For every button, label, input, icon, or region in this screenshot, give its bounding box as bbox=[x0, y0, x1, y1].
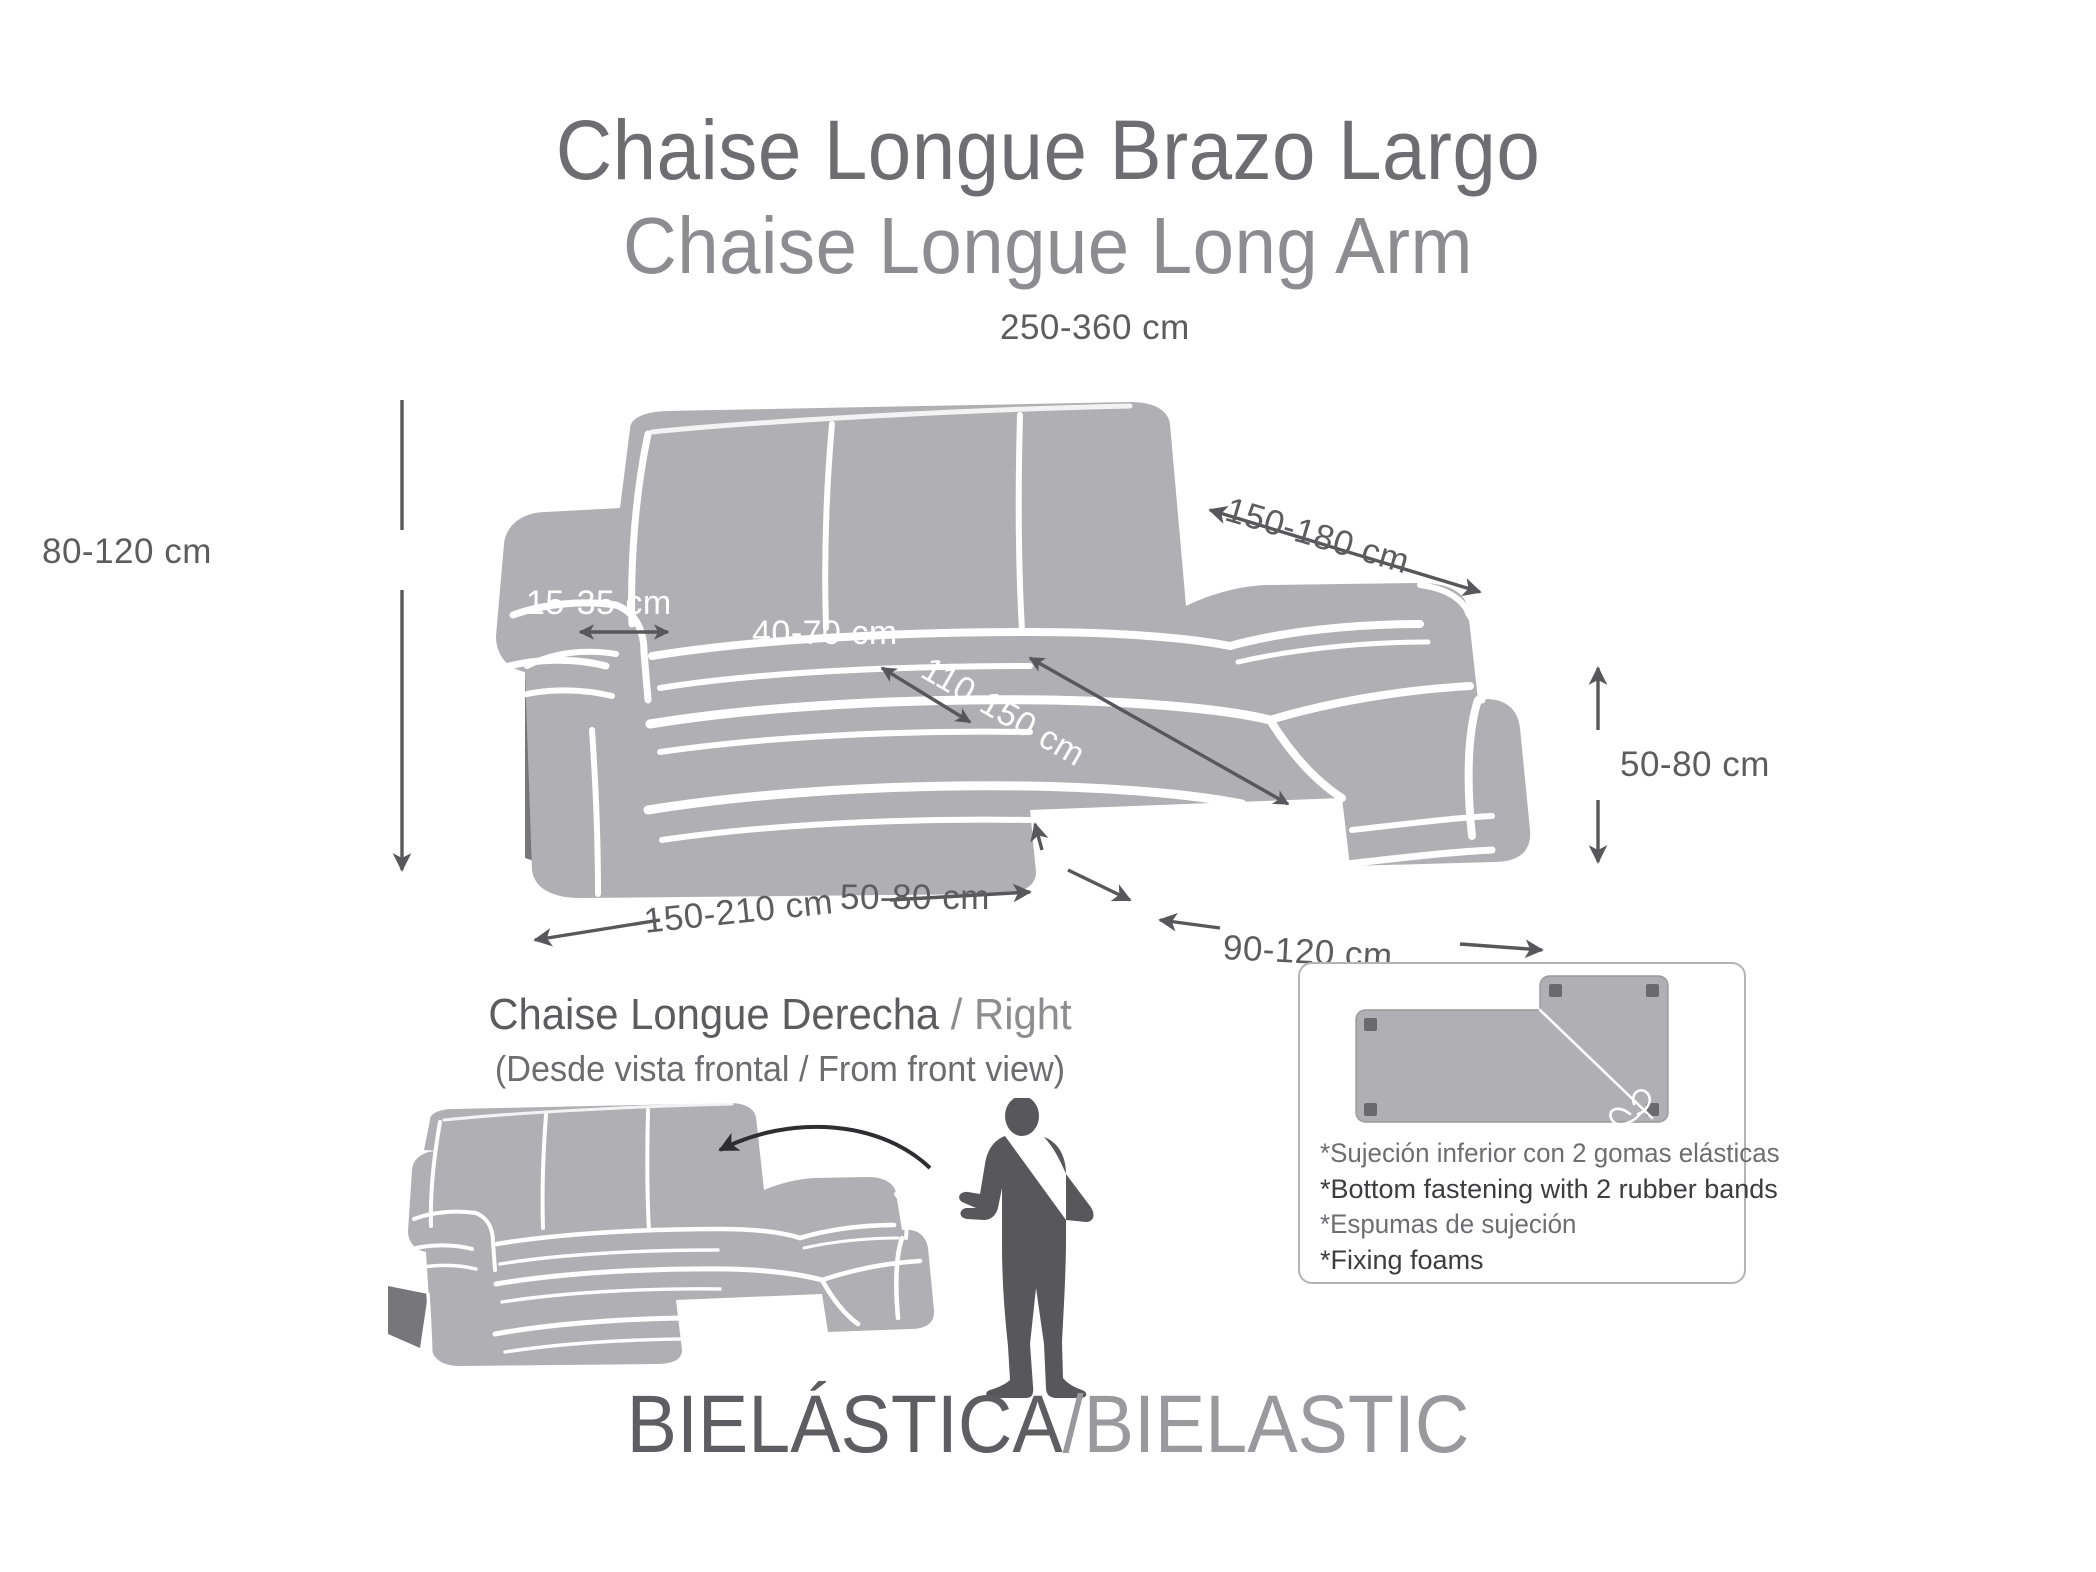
footer-english: BIELASTIC bbox=[1084, 1379, 1470, 1470]
sofa-body bbox=[496, 402, 1530, 898]
front-view-subtitle: (Desde vista frontal / From front view) bbox=[381, 1048, 1179, 1090]
page-title-english: Chaise Longue Long Arm bbox=[73, 206, 2022, 286]
dim-label-corner-width: 50-80 cm bbox=[840, 878, 990, 918]
front-view-heading-separator: / bbox=[939, 990, 974, 1039]
dim-label-total-width: 250-360 cm bbox=[1000, 308, 1190, 348]
dim-label-chaise-height: 50-80 cm bbox=[1620, 745, 1770, 785]
front-view-heading-spanish: Chaise Longue Derecha bbox=[488, 990, 939, 1039]
front-view-section: Chaise Longue Derecha / Right (Desde vis… bbox=[360, 990, 1200, 1090]
bottom-fastening-diagram bbox=[1300, 964, 1744, 1134]
info-box: *Sujeción inferior con 2 gomas elásticas… bbox=[1298, 962, 1746, 1284]
page-title-spanish: Chaise Longue Brazo Largo bbox=[73, 108, 2022, 192]
front-view-heading: Chaise Longue Derecha / Right bbox=[381, 990, 1179, 1040]
info-line-3: *Espumas de sujeción bbox=[1320, 1207, 1723, 1243]
dim-label-total-height: 80-120 cm bbox=[42, 532, 212, 572]
poster-root: Chaise Longue Brazo Largo Chaise Longue … bbox=[0, 0, 2096, 1572]
info-line-1: *Sujeción inferior con 2 gomas elásticas bbox=[1320, 1136, 1723, 1172]
info-line-2: *Bottom fastening with 2 rubber bands bbox=[1320, 1172, 1740, 1208]
info-line-4: *Fixing foams bbox=[1320, 1243, 1740, 1279]
footer-separator: / bbox=[1063, 1379, 1084, 1470]
front-view-heading-english: Right bbox=[974, 990, 1072, 1039]
sofa-illustration bbox=[330, 400, 1890, 960]
title-block: Chaise Longue Brazo Largo Chaise Longue … bbox=[0, 108, 2096, 286]
sofa-front-view-with-person bbox=[360, 1098, 1200, 1398]
sofa-dimension-diagram: 250-360 cm 80-120 cm 150-180 cm 50-80 cm… bbox=[330, 400, 1890, 960]
person-silhouette bbox=[959, 1098, 1093, 1398]
dim-label-seat-depth: 40-70 cm bbox=[752, 614, 898, 653]
footer-spanish: BIELÁSTICA bbox=[627, 1379, 1063, 1470]
dim-label-arm-width: 15-35 cm bbox=[526, 584, 672, 623]
info-lines: *Sujeción inferior con 2 gomas elásticas… bbox=[1320, 1136, 1740, 1279]
footer-bielastic: BIELÁSTICA/BIELASTIC bbox=[0, 1378, 2096, 1472]
